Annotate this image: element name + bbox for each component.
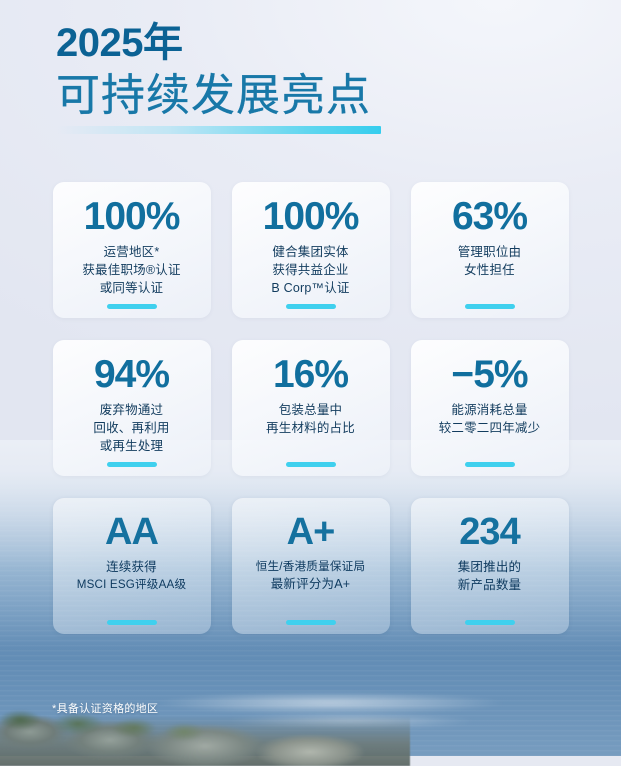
stat-caption-line: B Corp™认证 bbox=[271, 280, 349, 298]
stat-value: AA bbox=[105, 513, 158, 552]
card-accent-bar bbox=[286, 304, 336, 309]
page-title-year: 2025年 bbox=[56, 22, 621, 64]
card-accent-bar bbox=[286, 462, 336, 467]
stat-card: AA连续获得MSCI ESG评级AA级 bbox=[53, 498, 211, 634]
stat-value: 16% bbox=[273, 355, 348, 395]
stat-caption: 恒生/香港质量保证局最新评分为A+ bbox=[256, 559, 366, 593]
stat-caption-line: 获最佳职场®认证 bbox=[82, 262, 180, 280]
stat-caption-line: 集团推出的 bbox=[458, 559, 522, 577]
stat-caption-line: 运营地区* bbox=[82, 244, 180, 262]
stat-caption-line: 新产品数量 bbox=[458, 577, 522, 595]
infographic-content: 2025年 可持续发展亮点 100%运营地区*获最佳职场®认证或同等认证100%… bbox=[0, 0, 621, 634]
stat-value: A+ bbox=[287, 513, 335, 552]
stat-card: 100%健合集团实体获得共益企业B Corp™认证 bbox=[232, 182, 390, 318]
stat-caption-line: 废弃物通过 bbox=[93, 402, 169, 420]
stat-caption-line: 获得共益企业 bbox=[271, 262, 349, 280]
stat-caption-line: 连续获得 bbox=[77, 559, 187, 577]
stat-value: 100% bbox=[263, 197, 359, 237]
stat-card: 100%运营地区*获最佳职场®认证或同等认证 bbox=[53, 182, 211, 318]
stat-caption: 管理职位由女性担任 bbox=[458, 244, 522, 280]
stat-caption-line: 或再生处理 bbox=[93, 438, 169, 456]
card-accent-bar bbox=[107, 620, 157, 625]
stat-card: 94%废弃物通过回收、再利用或再生处理 bbox=[53, 340, 211, 476]
card-accent-bar bbox=[286, 620, 336, 625]
stat-caption-line: 女性担任 bbox=[458, 262, 522, 280]
stats-grid: 100%运营地区*获最佳职场®认证或同等认证100%健合集团实体获得共益企业B … bbox=[53, 182, 569, 634]
card-accent-bar bbox=[465, 462, 515, 467]
stat-caption-line: 再生材料的占比 bbox=[266, 420, 355, 438]
stat-caption-line: 较二零二四年减少 bbox=[439, 420, 541, 438]
stat-value: 100% bbox=[84, 197, 180, 237]
stat-caption-line: 回收、再利用 bbox=[93, 420, 169, 438]
stat-caption-line: 或同等认证 bbox=[82, 280, 180, 298]
stat-caption: 集团推出的新产品数量 bbox=[458, 559, 522, 595]
stat-caption-line: 恒生/香港质量保证局 bbox=[256, 559, 366, 575]
stat-card: 63%管理职位由女性担任 bbox=[411, 182, 569, 318]
card-accent-bar bbox=[107, 304, 157, 309]
stat-caption: 废弃物通过回收、再利用或再生处理 bbox=[93, 402, 169, 455]
card-accent-bar bbox=[107, 462, 157, 467]
card-accent-bar bbox=[465, 620, 515, 625]
stat-value: 234 bbox=[459, 513, 519, 552]
footnote-text: *具备认证资格的地区 bbox=[52, 700, 158, 716]
stat-caption-line: 能源消耗总量 bbox=[439, 402, 541, 420]
page-title-subtitle: 可持续发展亮点 bbox=[56, 72, 621, 120]
stat-caption-line: MSCI ESG评级AA级 bbox=[77, 577, 187, 593]
stat-caption: 连续获得MSCI ESG评级AA级 bbox=[77, 559, 187, 593]
stat-caption-line: 管理职位由 bbox=[458, 244, 522, 262]
stat-card: 16%包装总量中再生材料的占比 bbox=[232, 340, 390, 476]
stat-caption-line: 健合集团实体 bbox=[271, 244, 349, 262]
page-header: 2025年 可持续发展亮点 bbox=[0, 0, 621, 134]
title-underline-bar bbox=[56, 126, 381, 134]
stat-caption: 健合集团实体获得共益企业B Corp™认证 bbox=[271, 244, 349, 297]
stat-value: 63% bbox=[452, 197, 527, 237]
stat-caption: 能源消耗总量较二零二四年减少 bbox=[439, 402, 541, 438]
stat-value: −5% bbox=[451, 355, 527, 395]
stat-caption-line: 包装总量中 bbox=[266, 402, 355, 420]
stat-caption: 包装总量中再生材料的占比 bbox=[266, 402, 355, 438]
card-accent-bar bbox=[465, 304, 515, 309]
stat-card: −5%能源消耗总量较二零二四年减少 bbox=[411, 340, 569, 476]
stat-card: 234集团推出的新产品数量 bbox=[411, 498, 569, 634]
stat-caption-line: 最新评分为A+ bbox=[256, 576, 366, 594]
stat-card: A+恒生/香港质量保证局最新评分为A+ bbox=[232, 498, 390, 634]
stat-value: 94% bbox=[94, 355, 169, 395]
stat-caption: 运营地区*获最佳职场®认证或同等认证 bbox=[82, 244, 180, 297]
